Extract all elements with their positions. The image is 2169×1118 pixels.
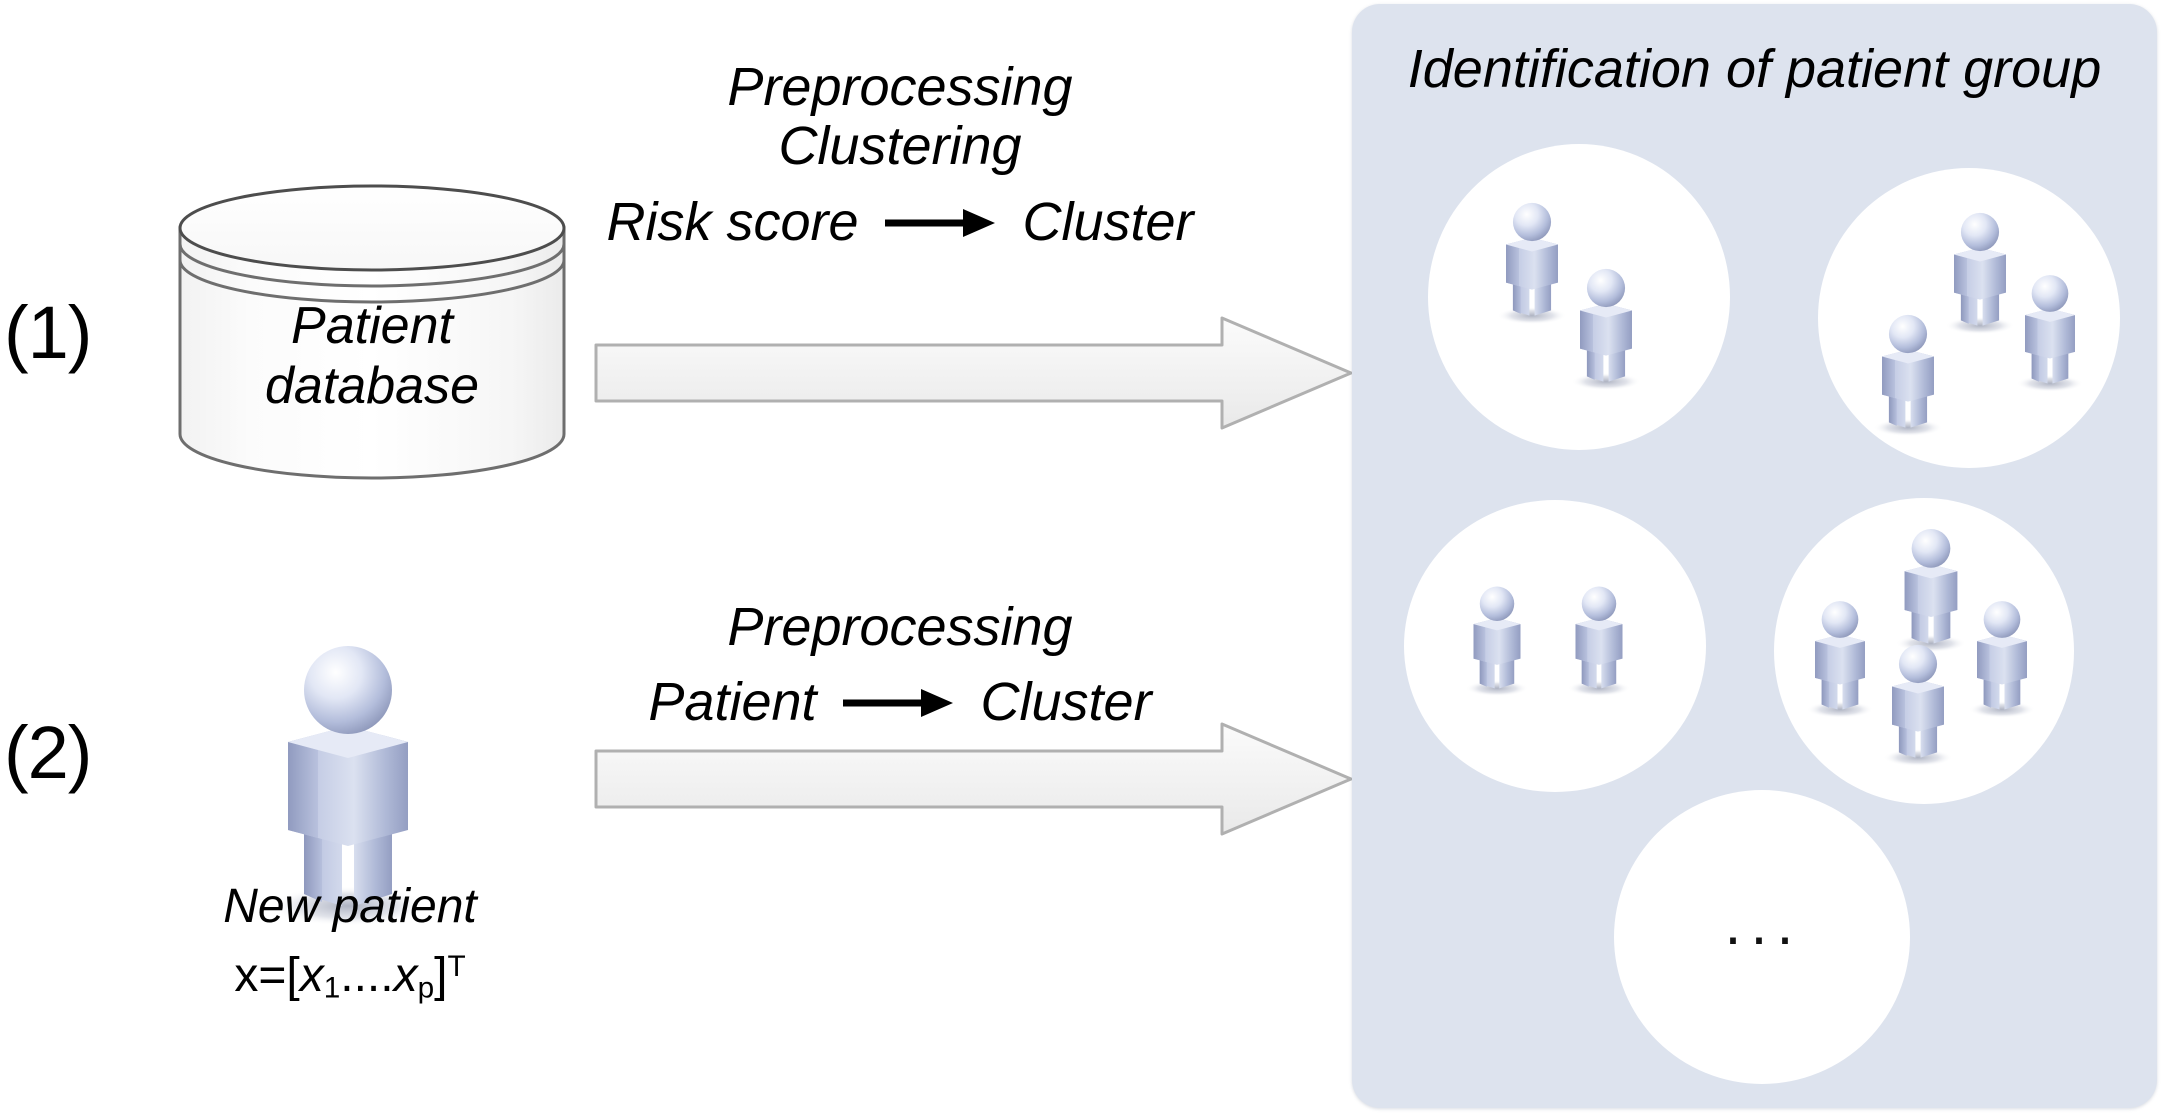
cluster-top-left xyxy=(1428,144,1730,450)
panel-title: Identification of patient group xyxy=(1352,38,2157,100)
person-icon xyxy=(1866,638,1970,768)
cluster-middle-right xyxy=(1774,498,2074,804)
right-arrow-icon xyxy=(885,191,997,253)
formula-prefix: x=[ xyxy=(234,949,299,1002)
person-icon xyxy=(1450,580,1544,698)
patient-database-label: Patient database xyxy=(176,296,568,417)
formula-subscript-2: p xyxy=(418,972,435,1005)
process-1-line-2: Clustering xyxy=(420,117,1380,176)
cluster-bottom-center: ··· xyxy=(1614,790,1910,1084)
patient-group-panel: Identification of patient group xyxy=(1352,4,2157,1108)
database-label-line-1: Patient xyxy=(176,296,568,356)
database-label-line-2: database xyxy=(176,356,568,416)
cluster-middle-left xyxy=(1404,500,1706,792)
block-arrow-right-icon-2 xyxy=(594,722,1354,836)
formula-variable-2: x xyxy=(394,949,418,1002)
process-1-mapping-to: Cluster xyxy=(1023,191,1194,253)
person-icon xyxy=(1856,308,1960,438)
person-icon xyxy=(1552,580,1646,698)
formula-transpose: T xyxy=(447,950,465,983)
process-1-line-1: Preprocessing xyxy=(420,58,1380,117)
formula-suffix: ] xyxy=(434,949,447,1002)
cluster-top-right xyxy=(1818,168,2120,468)
row-number-2: (2) xyxy=(4,716,91,790)
cluster-ellipsis: ··· xyxy=(1614,907,1910,967)
person-icon xyxy=(2000,268,2100,394)
process-1-mapping-from: Risk score xyxy=(606,191,858,253)
row-number-1: (1) xyxy=(4,296,91,370)
block-arrow-right-icon-1 xyxy=(594,316,1354,430)
process-2-line-1: Preprocessing xyxy=(420,598,1380,657)
diagram-canvas: (1) (2) xyxy=(0,0,2169,1118)
formula-subscript-1: 1 xyxy=(324,972,341,1005)
process-1-mapping: Risk score Cluster xyxy=(420,191,1380,253)
person-icon xyxy=(1554,262,1658,392)
new-patient-formula: x=[x1....xp]T xyxy=(120,948,580,1006)
new-patient-caption: New patient xyxy=(120,880,580,935)
process-1-description: Preprocessing Clustering Risk score Clus… xyxy=(420,58,1380,253)
formula-dots: .... xyxy=(340,949,393,1002)
process-2-description: Preprocessing Patient Cluster xyxy=(420,598,1380,733)
formula-variable-1: x xyxy=(300,949,324,1002)
